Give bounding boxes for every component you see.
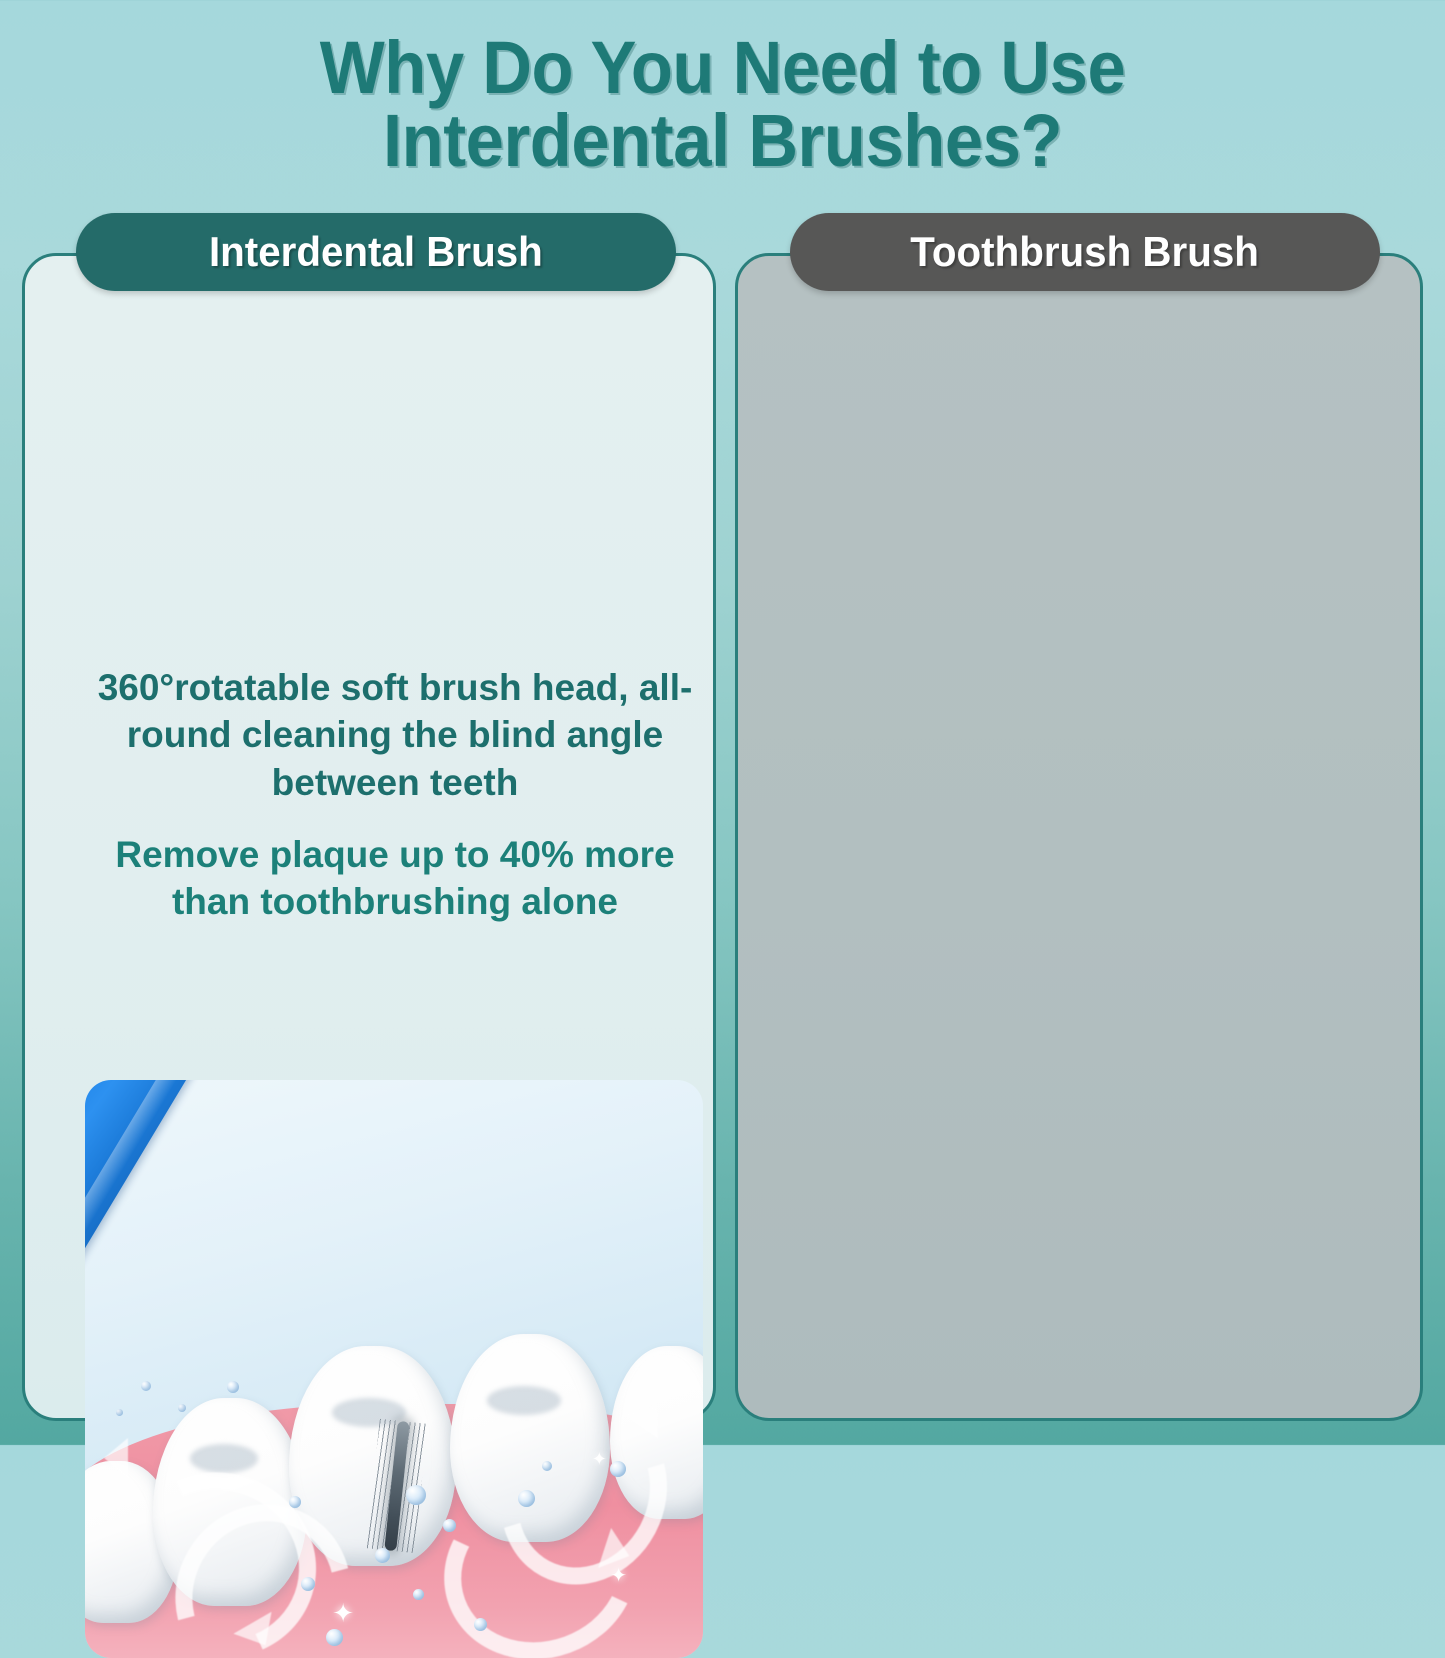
panel-interdental-brush: 360°rotatable soft brush head, all-round… xyxy=(22,253,716,1421)
interdental-brush-handle xyxy=(85,1080,221,1449)
page-title-line-2: Interdental Brushes? xyxy=(51,105,1395,178)
left-paragraph-2: Remove plaque up to 40% more than toothb… xyxy=(87,831,703,926)
brush-bristle-head xyxy=(384,1421,410,1552)
sparkle-icon: ✦ xyxy=(610,1566,627,1586)
badge-toothbrush: Toothbrush Brush xyxy=(790,213,1380,291)
badge-interdental-brush: Interdental Brush xyxy=(76,213,676,291)
sparkle-icon: ✦ xyxy=(592,1450,607,1468)
badge-toothbrush-label: Toothbrush Brush xyxy=(911,228,1260,276)
badge-interdental-brush-label: Interdental Brush xyxy=(209,228,543,276)
panel-toothbrush: Can not clean to the gap between the tee… xyxy=(735,253,1423,1421)
sparkle-icon: ✦ xyxy=(332,1600,354,1626)
page-title-line-1: Why Do You Need to Use xyxy=(320,26,1125,109)
infographic-root: Why Do You Need to Use Interdental Brush… xyxy=(0,0,1445,1445)
page-title: Why Do You Need to Use Interdental Brush… xyxy=(51,32,1395,177)
interdental-brush-illustration: ✦ ✦ ✦ xyxy=(85,1080,703,1658)
left-paragraph-1: 360°rotatable soft brush head, all-round… xyxy=(65,664,725,806)
